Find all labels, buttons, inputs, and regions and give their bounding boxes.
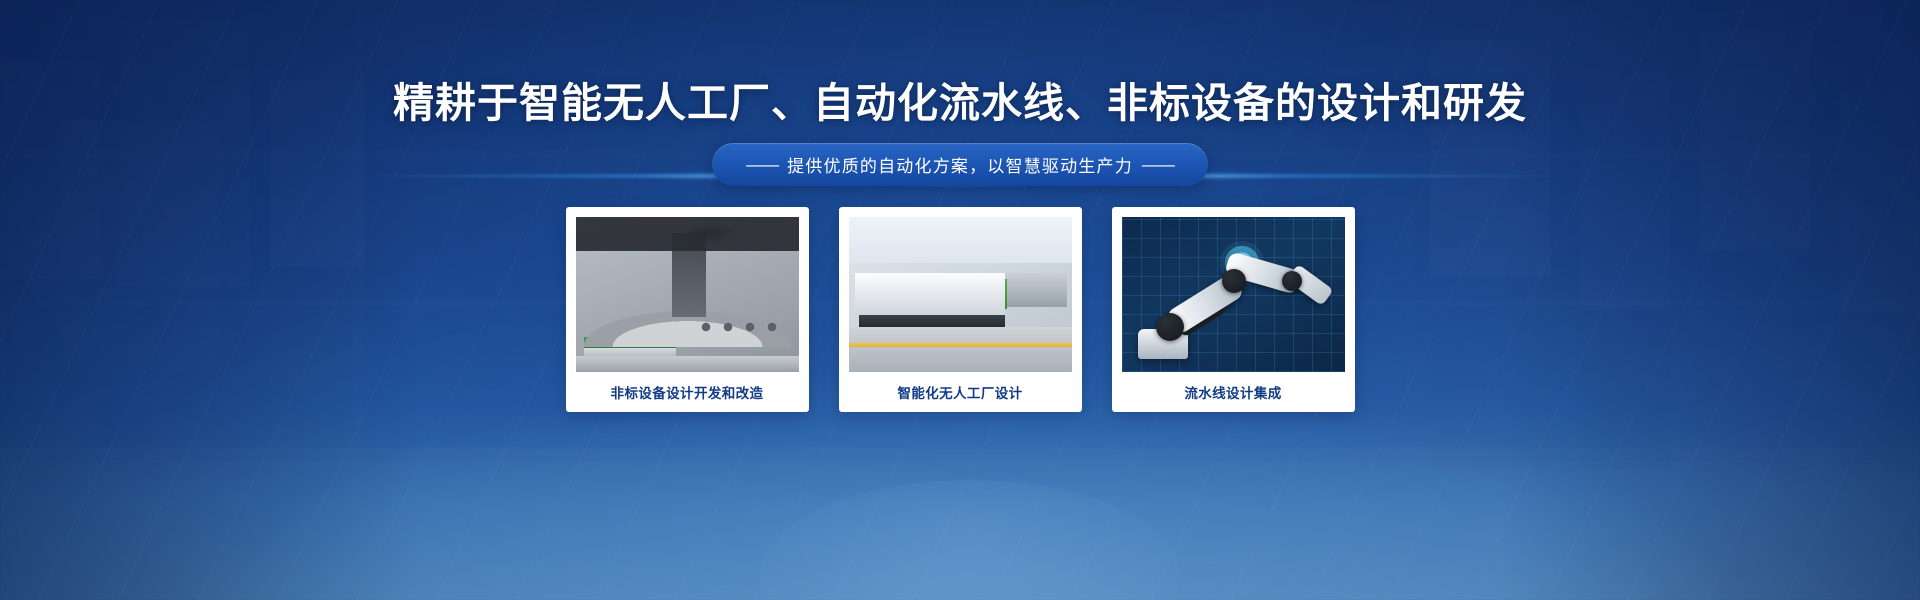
card-caption: 智能化无人工厂设计 xyxy=(849,372,1072,412)
hero-banner: 精耕于智能无人工厂、自动化流水线、非标设备的设计和研发 —— 提供优质的自动化方… xyxy=(0,0,1920,600)
feature-card[interactable]: 流水线设计集成 xyxy=(1112,207,1355,412)
card-caption: 流水线设计集成 xyxy=(1122,372,1345,412)
card-caption: 非标设备设计开发和改造 xyxy=(576,372,799,412)
robot-joint-3 xyxy=(1282,271,1302,291)
feature-card[interactable]: 非标设备设计开发和改造 xyxy=(566,207,809,412)
card-thumbnail-smart-factory xyxy=(849,217,1072,372)
feature-card[interactable]: 智能化无人工厂设计 xyxy=(839,207,1082,412)
banner-content: 精耕于智能无人工厂、自动化流水线、非标设备的设计和研发 —— 提供优质的自动化方… xyxy=(0,0,1920,600)
card-thumbnail-nonstandard-equipment xyxy=(576,217,799,372)
subtitle-right-dash: —— xyxy=(1142,155,1174,175)
robot-arm-illustration xyxy=(1122,217,1345,372)
robot-joint-1 xyxy=(1156,313,1184,341)
robot-joint-2 xyxy=(1222,269,1246,293)
subtitle-text: 提供优质的自动化方案，以智慧驱动生产力 xyxy=(787,152,1133,177)
subtitle-left-dash: —— xyxy=(746,155,778,175)
feature-card-list: 非标设备设计开发和改造 智能化无人工厂设计 xyxy=(0,207,1920,412)
card-thumbnail-production-line xyxy=(1122,217,1345,372)
banner-headline: 精耕于智能无人工厂、自动化流水线、非标设备的设计和研发 xyxy=(0,80,1920,127)
banner-subtitle-wrap: —— 提供优质的自动化方案，以智慧驱动生产力 —— xyxy=(0,143,1920,186)
banner-subtitle-pill: —— 提供优质的自动化方案，以智慧驱动生产力 —— xyxy=(712,143,1208,186)
